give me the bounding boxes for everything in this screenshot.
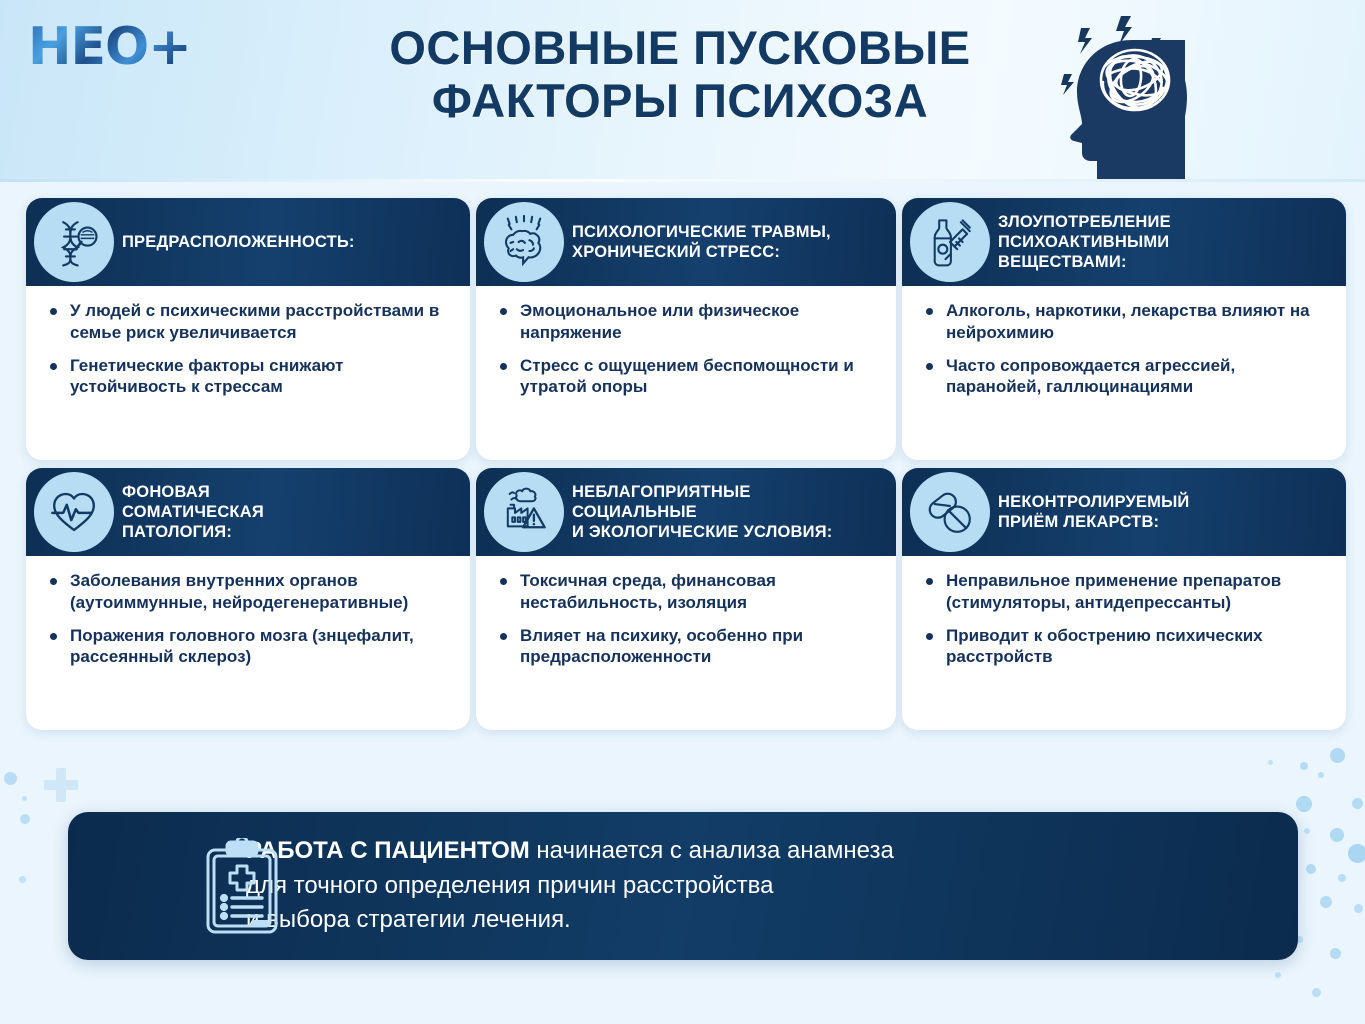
brand-logo[interactable]: НЕО+	[28, 16, 203, 78]
card-bullet: У людей с психическими расстройствами в …	[48, 300, 452, 344]
decor-dot	[1338, 874, 1346, 882]
heart-pulse-icon	[34, 472, 114, 552]
card-header: НЕКОНТРОЛИРУЕМЫЙ ПРИЁМ ЛЕКАРСТВ:	[902, 468, 1346, 556]
factor-card[interactable]: ПРЕДРАСПОЛОЖЕННОСТЬ: У людей с психическ…	[26, 198, 470, 460]
decor-dot	[19, 876, 26, 883]
clipboard-medical-icon	[196, 838, 288, 936]
card-bullet: Стресс с ощущением беспомощности и утрат…	[498, 355, 878, 399]
summary-banner: РАБОТА С ПАЦИЕНТОМ начинается с анализа …	[68, 812, 1298, 960]
decor-dot	[4, 772, 17, 785]
header-band: НЕО+ ОСНОВНЫЕ ПУСКОВЫЕ ФАКТОРЫ ПСИХОЗА	[0, 0, 1365, 182]
card-bullet-list: Алкоголь, наркотики, лекарства влияют на…	[924, 300, 1328, 398]
banner-rest: начинается с анализа анамнеза	[530, 837, 894, 864]
decor-dot	[1354, 904, 1363, 913]
card-body: Алкоголь, наркотики, лекарства влияют на…	[902, 286, 1346, 419]
stressed-brain-icon	[484, 202, 564, 282]
factor-card[interactable]: НЕБЛАГОПРИЯТНЫЕ СОЦИАЛЬНЫЕ И ЭКОЛОГИЧЕСК…	[476, 468, 896, 730]
decor-dot	[1348, 844, 1365, 863]
card-title: ЗЛОУПОТРЕБЛЕНИЕ ПСИХОАКТИВНЫМИ ВЕЩЕСТВАМ…	[998, 212, 1171, 272]
card-bullet: Алкоголь, наркотики, лекарства влияют на…	[924, 300, 1328, 344]
card-bullet: Поражения головного мозга (знцефалит, ра…	[48, 625, 452, 669]
card-bullet: Заболевания внутренних органов (аутоимму…	[48, 570, 452, 614]
card-title: ПСИХОЛОГИЧЕСКИЕ ТРАВМЫ, ХРОНИЧЕСКИЙ СТРЕ…	[572, 222, 831, 262]
head-with-tangled-thoughts-icon	[1037, 4, 1247, 182]
card-body: Эмоциональное или физическое напряжение …	[476, 286, 896, 419]
card-bullet-list: Токсичная среда, финансовая нестабильнос…	[498, 570, 878, 668]
banner-line-3: и выбора стратегии лечения.	[246, 903, 894, 938]
card-bullet: Неправильное применение препаратов (стим…	[924, 570, 1328, 614]
decor-dot	[1312, 988, 1321, 997]
card-body: Неправильное применение препаратов (стим…	[902, 556, 1346, 689]
decor-cross	[44, 768, 78, 802]
card-bullet-list: У людей с психическими расстройствами в …	[48, 300, 452, 398]
card-body: Заболевания внутренних органов (аутоимму…	[26, 556, 470, 689]
decor-dot	[1275, 972, 1281, 978]
card-bullet: Генетические факторы снижают устойчивост…	[48, 355, 452, 399]
decor-dot	[22, 796, 27, 801]
card-title: НЕКОНТРОЛИРУЕМЫЙ ПРИЁМ ЛЕКАРСТВ:	[998, 492, 1189, 532]
card-bullet: Часто сопровождается агрессией, паранойе…	[924, 355, 1328, 399]
decor-dot	[1296, 796, 1312, 812]
decor-dot	[1268, 760, 1273, 765]
card-bullet-list: Заболевания внутренних органов (аутоимму…	[48, 570, 452, 668]
dna-magnifier-icon	[34, 202, 114, 282]
bottle-syringe-icon	[910, 202, 990, 282]
decor-dot	[1352, 798, 1363, 809]
factor-card[interactable]: НЕКОНТРОЛИРУЕМЫЙ ПРИЁМ ЛЕКАРСТВ: Неправи…	[902, 468, 1346, 730]
decor-dot	[1330, 748, 1345, 763]
card-body: Токсичная среда, финансовая нестабильнос…	[476, 556, 896, 689]
factor-card[interactable]: ФОНОВАЯ СОМАТИЧЕСКАЯ ПАТОЛОГИЯ: Заболева…	[26, 468, 470, 730]
decor-dot	[1306, 864, 1316, 874]
factors-grid: ПРЕДРАСПОЛОЖЕННОСТЬ: У людей с психическ…	[26, 198, 1340, 730]
card-title: НЕБЛАГОПРИЯТНЫЕ СОЦИАЛЬНЫЕ И ЭКОЛОГИЧЕСК…	[572, 482, 832, 542]
decor-dot	[1320, 896, 1332, 908]
card-bullet: Токсичная среда, финансовая нестабильнос…	[498, 570, 878, 614]
banner-line-1: РАБОТА С ПАЦИЕНТОМ начинается с анализа …	[246, 834, 894, 869]
decor-dot	[1318, 772, 1324, 778]
card-title: ПРЕДРАСПОЛОЖЕННОСТЬ:	[122, 232, 355, 252]
pills-icon	[910, 472, 990, 552]
card-header: НЕБЛАГОПРИЯТНЫЕ СОЦИАЛЬНЫЕ И ЭКОЛОГИЧЕСК…	[476, 468, 896, 556]
factory-warning-icon	[484, 472, 564, 552]
card-bullet-list: Неправильное применение препаратов (стим…	[924, 570, 1328, 668]
card-bullet: Влияет на психику, особенно при предрасп…	[498, 625, 878, 669]
card-bullet-list: Эмоциональное или физическое напряжение …	[498, 300, 878, 398]
brand-logo-text: НЕО+	[28, 21, 191, 73]
card-title: ФОНОВАЯ СОМАТИЧЕСКАЯ ПАТОЛОГИЯ:	[122, 482, 264, 542]
card-header: ФОНОВАЯ СОМАТИЧЕСКАЯ ПАТОЛОГИЯ:	[26, 468, 470, 556]
factor-card[interactable]: ЗЛОУПОТРЕБЛЕНИЕ ПСИХОАКТИВНЫМИ ВЕЩЕСТВАМ…	[902, 198, 1346, 460]
decor-dot	[1300, 762, 1308, 770]
banner-text: РАБОТА С ПАЦИЕНТОМ начинается с анализа …	[186, 834, 894, 938]
banner-line-2: для точного определения причин расстройс…	[246, 869, 894, 904]
infographic-page: НЕО+ ОСНОВНЫЕ ПУСКОВЫЕ ФАКТОРЫ ПСИХОЗА	[0, 0, 1365, 1024]
card-header: ПРЕДРАСПОЛОЖЕННОСТЬ:	[26, 198, 470, 286]
decor-dot	[1330, 948, 1341, 959]
decor-dot	[1304, 828, 1310, 834]
page-title-line2: ФАКТОРЫ ПСИХОЗА	[300, 75, 1060, 128]
page-title: ОСНОВНЫЕ ПУСКОВЫЕ ФАКТОРЫ ПСИХОЗА	[300, 22, 1060, 127]
card-header: ЗЛОУПОТРЕБЛЕНИЕ ПСИХОАКТИВНЫМИ ВЕЩЕСТВАМ…	[902, 198, 1346, 286]
card-header: ПСИХОЛОГИЧЕСКИЕ ТРАВМЫ, ХРОНИЧЕСКИЙ СТРЕ…	[476, 198, 896, 286]
decor-dot	[20, 814, 30, 824]
banner-strong: РАБОТА С ПАЦИЕНТОМ	[246, 837, 530, 864]
page-title-line1: ОСНОВНЫЕ ПУСКОВЫЕ	[300, 22, 1060, 75]
factor-card[interactable]: ПСИХОЛОГИЧЕСКИЕ ТРАВМЫ, ХРОНИЧЕСКИЙ СТРЕ…	[476, 198, 896, 460]
card-bullet: Эмоциональное или физическое напряжение	[498, 300, 878, 344]
card-body: У людей с психическими расстройствами в …	[26, 286, 470, 419]
decor-dot	[1330, 828, 1344, 842]
card-bullet: Приводит к обострению психических расстр…	[924, 625, 1328, 669]
